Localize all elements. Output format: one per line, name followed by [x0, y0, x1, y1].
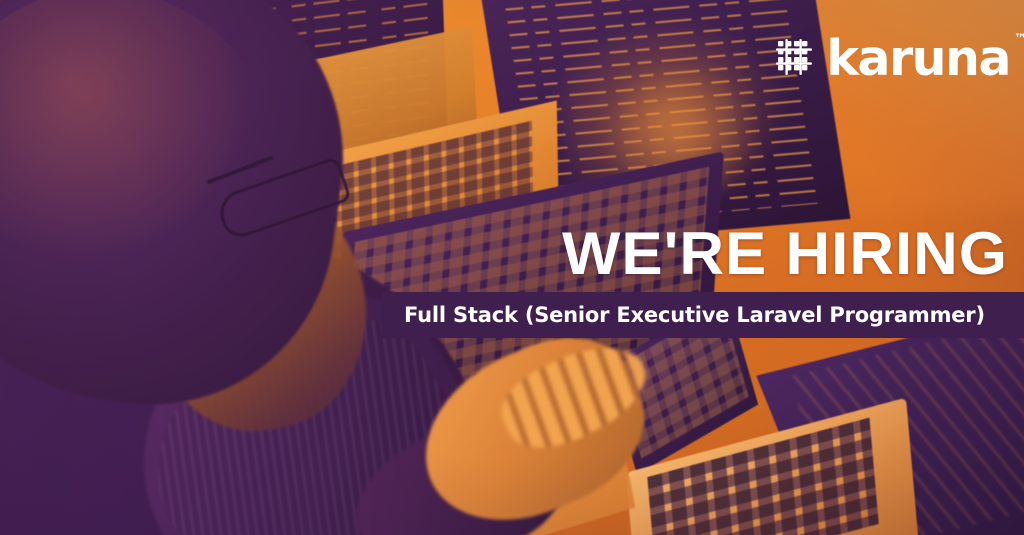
hiring-banner: karuna ™ WE'RE HIRING Full Stack (Senior… — [0, 0, 1024, 535]
job-title-bar: Full Stack (Senior Executive Laravel Pro… — [382, 292, 1024, 338]
karuna-grid-mark-icon — [776, 39, 816, 79]
karuna-wordmark-text: karuna — [826, 30, 1010, 87]
trademark-symbol: ™ — [1014, 34, 1024, 46]
karuna-logo[interactable]: karuna ™ — [776, 36, 1010, 81]
headline-were-hiring: WE'RE HIRING — [562, 224, 1008, 284]
karuna-wordmark: karuna ™ — [826, 36, 1010, 81]
job-title-text: Full Stack (Senior Executive Laravel Pro… — [382, 303, 985, 327]
